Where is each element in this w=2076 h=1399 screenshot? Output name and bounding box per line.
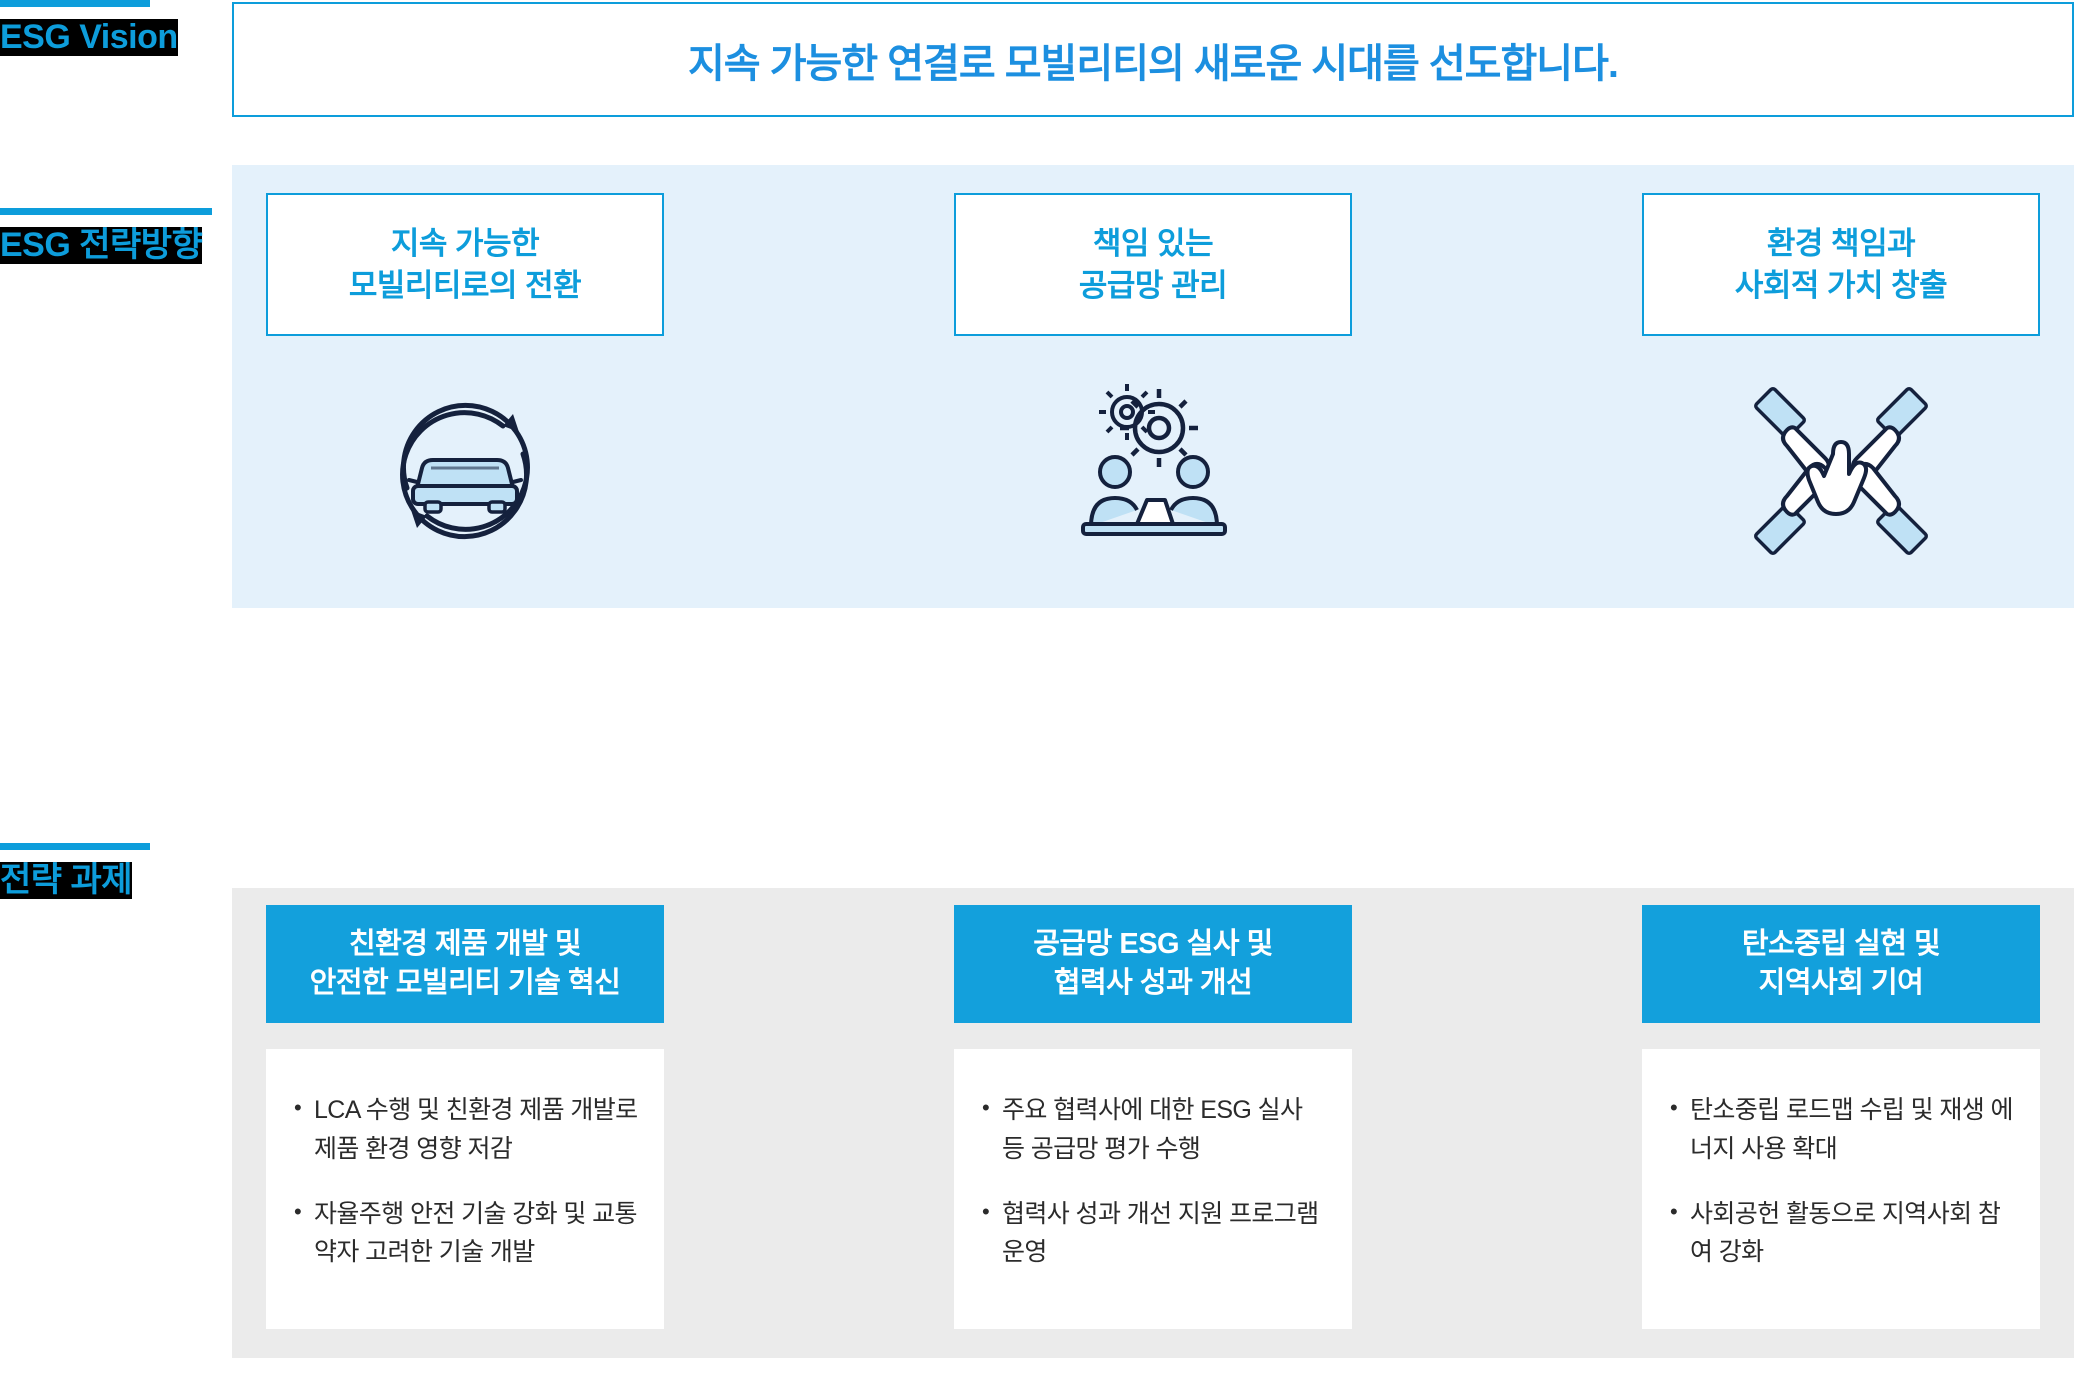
strategy-card-3[interactable]: 환경 책임과 사회적 가치 창출 [1642,193,2040,336]
task-header-3-line1: 탄소중립 실현 및 [1742,928,1940,960]
task-header-2[interactable]: 공급망 ESG 실사 및 협력사 성과 개선 [954,905,1352,1023]
strategy-card-2-text: 책임 있는 공급망 관리 [1079,223,1227,307]
section-label-strategy-text: ESG 전략방향 [0,227,202,264]
task-header-3-text: 탄소중립 실현 및 지역사회 기여 [1742,925,1940,1003]
vision-statement-box: 지속 가능한 연결로 모빌리티의 새로운 시대를 선도합니다. [232,2,2074,117]
section-label-tasks-text: 전략 과제 [0,862,132,899]
section-label-vision: ESG Vision [0,0,232,56]
strategy-icon-row [266,363,2040,578]
strategy-card-2[interactable]: 책임 있는 공급망 관리 [954,193,1352,336]
strategy-card-1-text: 지속 가능한 모빌리티로의 전환 [349,223,581,307]
strategy-card-2-line2: 공급망 관리 [1079,268,1227,303]
vision-statement-text: 지속 가능한 연결로 모빌리티의 새로운 시대를 선도합니다. [688,31,1618,89]
section-label-vision-text: ESG Vision [0,19,178,56]
task-bullet-item: 주요 협력사에 대한 ESG 실사 등 공급망 평가 수행 [980,1091,1326,1169]
task-bullet-item: 탄소중립 로드맵 수립 및 재생 에너지 사용 확대 [1668,1091,2014,1169]
section-label-tasks: 전략 과제 [0,843,232,899]
strategy-card-3-text: 환경 책임과 사회적 가치 창출 [1735,223,1947,307]
section-rule-tasks [0,843,150,850]
strategy-card-3-line1: 환경 책임과 [1767,226,1915,261]
strategic-tasks-row: 친환경 제품 개발 및 안전한 모빌리티 기술 혁신 LCA 수행 및 친환경 … [266,905,2040,1329]
task-bullet-item: 협력사 성과 개선 지원 프로그램 운영 [980,1195,1326,1273]
task-header-2-line1: 공급망 ESG 실사 및 [1033,928,1273,960]
task-bullet-item: 자율주행 안전 기술 강화 및 교통 약자 고려한 기술 개발 [292,1195,638,1273]
esg-strategy-infographic: ESG Vision 지속 가능한 연결로 모빌리티의 새로운 시대를 선도합니… [0,0,2076,1399]
strategy-card-3-line2: 사회적 가치 창출 [1735,268,1947,303]
task-header-1-text: 친환경 제품 개발 및 안전한 모빌리티 기술 혁신 [310,925,621,1003]
task-body-3: 탄소중립 로드맵 수립 및 재생 에너지 사용 확대 사회공헌 활동으로 지역사… [1642,1049,2040,1329]
strategy-card-1-line2: 모빌리티로의 전환 [349,268,581,303]
task-header-3[interactable]: 탄소중립 실현 및 지역사회 기여 [1642,905,2040,1023]
task-column-1: 친환경 제품 개발 및 안전한 모빌리티 기술 혁신 LCA 수행 및 친환경 … [266,905,664,1329]
strategy-icon-slot-1 [266,363,664,578]
task-header-2-text: 공급망 ESG 실사 및 협력사 성과 개선 [1033,925,1273,1003]
task-header-1[interactable]: 친환경 제품 개발 및 안전한 모빌리티 기술 혁신 [266,905,664,1023]
task-body-1: LCA 수행 및 친환경 제품 개발로 제품 환경 영향 저감 자율주행 안전 … [266,1049,664,1329]
strategy-card-2-line1: 책임 있는 [1093,226,1213,261]
task-header-1-line1: 친환경 제품 개발 및 [349,928,581,960]
car-cycle-icon [365,376,565,566]
strategic-tasks-panel: 친환경 제품 개발 및 안전한 모빌리티 기술 혁신 LCA 수행 및 친환경 … [232,888,2074,1358]
task-header-1-line2: 안전한 모빌리티 기술 혁신 [310,967,621,999]
strategy-card-row: 지속 가능한 모빌리티로의 전환 책임 있는 공급망 관리 환경 책임과 사회적… [266,193,2040,336]
task-column-2: 공급망 ESG 실사 및 협력사 성과 개선 주요 협력사에 대한 ESG 실사… [954,905,1352,1329]
strategy-directions-panel: 지속 가능한 모빌리티로의 전환 책임 있는 공급망 관리 환경 책임과 사회적… [232,165,2074,608]
strategy-card-1[interactable]: 지속 가능한 모빌리티로의 전환 [266,193,664,336]
task-bullet-item: LCA 수행 및 친환경 제품 개발로 제품 환경 영향 저감 [292,1091,638,1169]
teamwork-hands-icon [1741,376,1941,566]
section-rule-vision [0,0,150,7]
section-rule-strategy [0,208,212,215]
task-body-2: 주요 협력사에 대한 ESG 실사 등 공급망 평가 수행 협력사 성과 개선 … [954,1049,1352,1329]
strategy-icon-slot-2 [954,363,1352,578]
strategy-icon-slot-3 [1642,363,2040,578]
task-column-3: 탄소중립 실현 및 지역사회 기여 탄소중립 로드맵 수립 및 재생 에너지 사… [1642,905,2040,1329]
people-gears-icon [1053,376,1253,566]
task-bullet-item: 사회공헌 활동으로 지역사회 참여 강화 [1668,1195,2014,1273]
strategy-card-1-line1: 지속 가능한 [391,226,539,261]
section-label-strategy: ESG 전략방향 [0,208,232,264]
task-bullet-list-1: LCA 수행 및 친환경 제품 개발로 제품 환경 영향 저감 자율주행 안전 … [292,1091,638,1272]
task-header-2-line2: 협력사 성과 개선 [1054,967,1252,999]
task-bullet-list-3: 탄소중립 로드맵 수립 및 재생 에너지 사용 확대 사회공헌 활동으로 지역사… [1668,1091,2014,1272]
task-bullet-list-2: 주요 협력사에 대한 ESG 실사 등 공급망 평가 수행 협력사 성과 개선 … [980,1091,1326,1272]
task-header-3-line2: 지역사회 기여 [1759,967,1924,999]
